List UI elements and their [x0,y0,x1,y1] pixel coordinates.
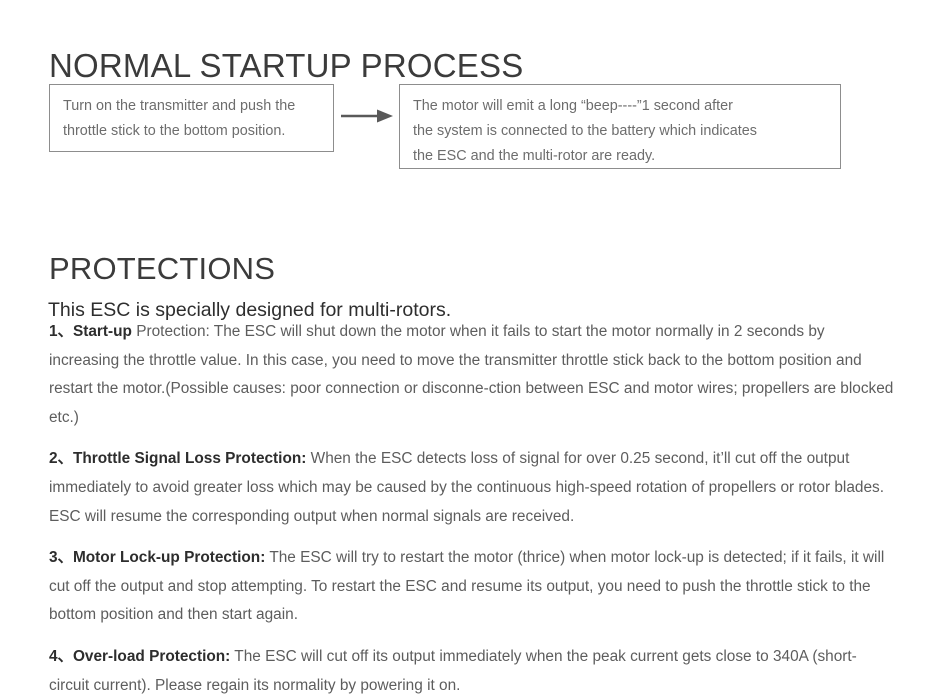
protection-item-2-label: Throttle Signal Loss Protection: [73,450,306,467]
protection-item-1-label-suffix: Protection: [132,323,210,340]
protection-item-1: 1、Start-up Protection: The ESC will shut… [49,318,894,432]
protection-item-4: 4、Over-load Protection: The ESC will cut… [49,643,894,700]
page-title-startup: NORMAL STARTUP PROCESS [49,46,523,86]
right-arrow-icon [341,106,393,126]
flow-box-step-2: The motor will emit a long “beep----”1 s… [399,84,841,169]
document-page: NORMAL STARTUP PROCESS Turn on the trans… [0,0,940,694]
flow-box-step-1-line-1: Turn on the transmitter and push the [63,94,321,119]
protection-item-1-index: 1、 [49,323,73,340]
flow-box-step-2-line-2: the system is connected to the battery w… [413,119,828,144]
protection-item-4-index: 4、 [49,648,73,665]
protection-item-1-label: Start-up [73,323,132,340]
protection-item-3-label: Motor Lock-up Protection: [73,549,265,566]
protection-item-3: 3、Motor Lock-up Protection: The ESC will… [49,544,894,630]
protections-list: 1、Start-up Protection: The ESC will shut… [49,318,894,700]
flow-box-step-1-line-2: throttle stick to the bottom position. [63,119,321,144]
flow-box-step-2-line-3: the ESC and the multi-rotor are ready. [413,144,828,169]
page-title-protections: PROTECTIONS [49,249,275,289]
protection-item-2: 2、Throttle Signal Loss Protection: When … [49,445,894,531]
flow-box-step-2-line-1: The motor will emit a long “beep----”1 s… [413,94,828,119]
protection-item-3-index: 3、 [49,549,73,566]
flow-box-step-1: Turn on the transmitter and push the thr… [49,84,334,152]
protection-item-2-index: 2、 [49,450,73,467]
protection-item-4-label: Over-load Protection: [73,648,230,665]
